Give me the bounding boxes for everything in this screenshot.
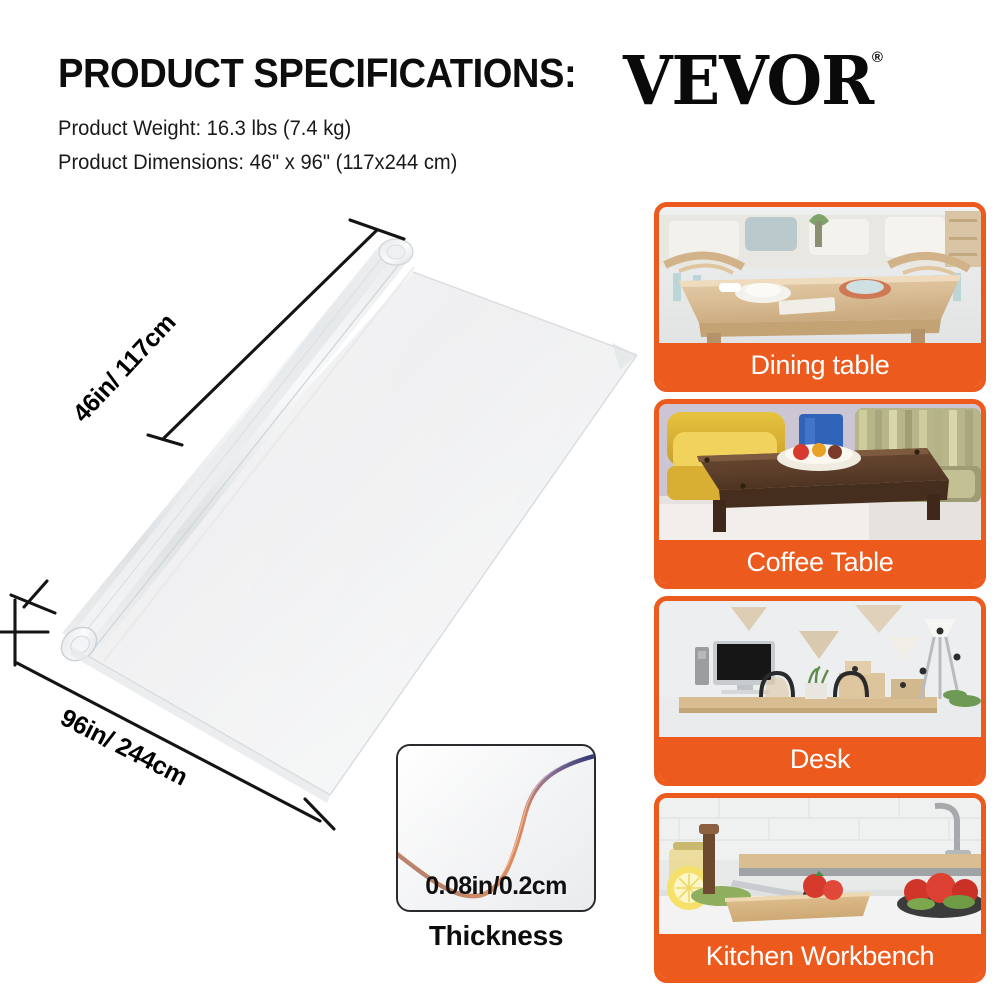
use-case-card-desk[interactable]: Desk [654, 596, 986, 786]
specifications-header: PRODUCT SPECIFICATIONS: Product Weight: … [58, 52, 618, 177]
desk-photo [659, 601, 981, 739]
thickness-value-label: 0.08in/0.2cm [398, 872, 594, 901]
use-case-label: Coffee Table [659, 540, 981, 584]
registered-trademark-icon: ® [872, 50, 883, 65]
use-case-card-list: Dining table [654, 202, 986, 990]
use-case-label: Dining table [659, 343, 981, 387]
vevor-logo: VEVOR ® [623, 48, 883, 110]
use-case-label: Kitchen Workbench [659, 934, 981, 978]
use-case-label: Desk [659, 737, 981, 781]
spec-product-dimensions: Product Dimensions: 46" x 96" (117x244 c… [58, 150, 596, 177]
thickness-caption: Thickness [396, 920, 596, 952]
use-case-card-dining-table[interactable]: Dining table [654, 202, 986, 392]
use-case-card-kitchen-workbench[interactable]: Kitchen Workbench [654, 793, 986, 983]
dining-table-photo [659, 207, 981, 345]
coffee-table-photo [659, 404, 981, 542]
page-title: PRODUCT SPECIFICATIONS: [58, 52, 579, 95]
thickness-detail-inset: 0.08in/0.2cm [396, 744, 596, 912]
brand-wordmark: VEVOR [623, 48, 873, 115]
kitchen-workbench-photo [659, 798, 981, 936]
spec-product-weight: Product Weight: 16.3 lbs (7.4 kg) [58, 116, 596, 143]
use-case-card-coffee-table[interactable]: Coffee Table [654, 399, 986, 589]
